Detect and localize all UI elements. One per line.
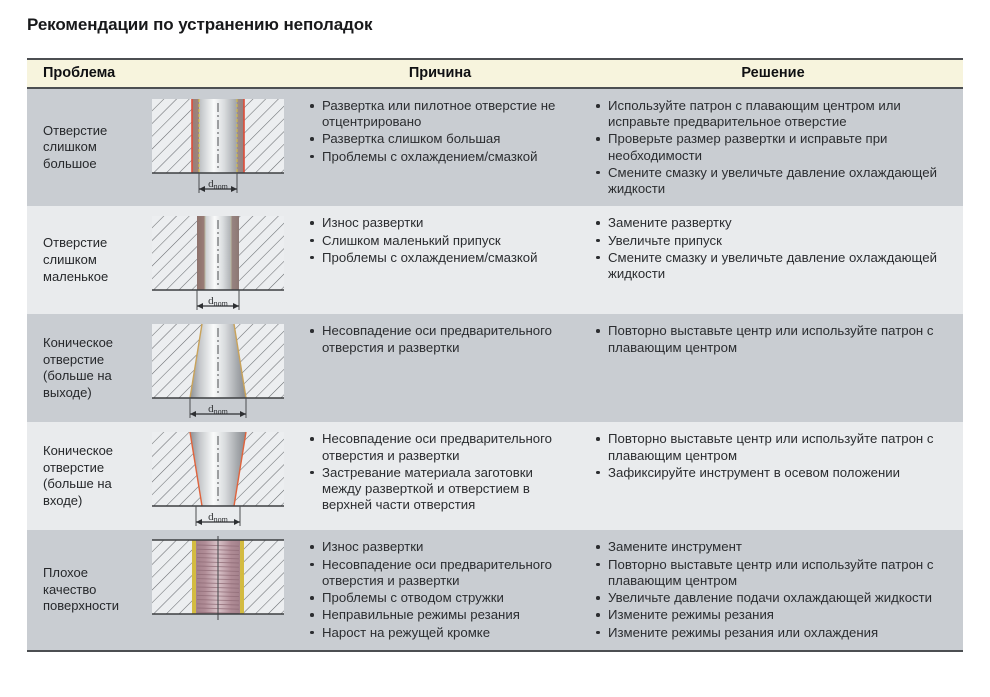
cell-problem: Плохое качество поверхности [27, 530, 139, 650]
cell-cause: Несовпадение оси предварительного отверс… [297, 314, 583, 422]
cause-item: Проблемы с отводом стружки [309, 590, 575, 606]
svg-text:dnom: dnom [208, 403, 229, 416]
cell-figure: dnom [139, 206, 297, 314]
solution-item: Повторно выставьте центр или используйте… [595, 431, 955, 463]
table-header: Проблема Причина Решение [27, 59, 963, 88]
cell-problem: Коническое отверстие (больше на входе) [27, 422, 139, 530]
cell-solution: Замените инструментПовторно выставьте це… [583, 530, 963, 650]
cell-cause: Развертка или пилотное отверстие не отце… [297, 88, 583, 206]
table-body: Отверстие слишком большое [27, 88, 963, 651]
cell-figure: dnom [139, 422, 297, 530]
figure-container: dnom [139, 206, 297, 314]
cell-solution: Замените разверткуУвеличьте припускСмени… [583, 206, 963, 314]
cell-cause: Несовпадение оси предварительного отверс… [297, 422, 583, 530]
cause-item: Застревание материала заготовки между ра… [309, 465, 575, 514]
cell-figure: dnom [139, 314, 297, 422]
solution-item: Проверьте размер развертки и исправьте п… [595, 131, 955, 163]
cause-item: Несовпадение оси предварительного отверс… [309, 557, 575, 589]
figure-hole-taper-entry: dnom [142, 428, 294, 528]
cause-item: Развертка слишком большая [309, 131, 575, 147]
cell-solution-list: Повторно выставьте центр или используйте… [583, 314, 963, 364]
solution-item: Увеличьте давление подачи охлаждающей жи… [595, 590, 955, 606]
cell-solution-list: Замените инструментПовторно выставьте це… [583, 530, 963, 649]
cause-item: Слишком маленький припуск [309, 233, 575, 249]
table-row: Отверстие слишком большое [27, 88, 963, 206]
solution-item: Повторно выставьте центр или используйте… [595, 323, 955, 355]
solution-item: Зафиксируйте инструмент в осевом положен… [595, 465, 955, 481]
cause-item: Нарост на режущей кромке [309, 625, 575, 641]
cause-item: Проблемы с охлаждением/смазкой [309, 250, 575, 266]
solution-item: Замените инструмент [595, 539, 955, 555]
svg-text:dnom: dnom [208, 178, 229, 191]
cell-cause-list: Несовпадение оси предварительного отверс… [297, 422, 583, 522]
page-title: Рекомендации по устранению неполадок [27, 15, 372, 35]
troubleshooting-table-wrapper: Проблема Причина Решение Отверстие слишк… [27, 58, 963, 652]
problem-label: Плохое качество поверхности [27, 565, 139, 615]
solution-item: Смените смазку и увеличьте давление охла… [595, 165, 955, 197]
svg-text:dnom: dnom [208, 295, 229, 308]
table-row: Коническое отверстие (больше на выходе) [27, 314, 963, 422]
solution-item: Замените развертку [595, 215, 955, 231]
table-row: Коническое отверстие (больше на входе) [27, 422, 963, 530]
cause-item: Проблемы с охлаждением/смазкой [309, 149, 575, 165]
cell-solution: Повторно выставьте центр или используйте… [583, 422, 963, 530]
cause-item: Развертка или пилотное отверстие не отце… [309, 98, 575, 130]
cause-item: Износ развертки [309, 215, 575, 231]
cause-item: Износ развертки [309, 539, 575, 555]
figure-hole-oversize: dnom [142, 95, 294, 195]
cell-problem: Отверстие слишком маленькое [27, 206, 139, 314]
cell-cause: Износ разверткиСлишком маленький припуск… [297, 206, 583, 314]
cell-solution: Используйте патрон с плавающим центром и… [583, 88, 963, 206]
cause-item: Несовпадение оси предварительного отверс… [309, 431, 575, 463]
figure-container: dnom [139, 89, 297, 197]
solution-item: Измените режимы резания [595, 607, 955, 623]
cell-figure: dnom [139, 88, 297, 206]
problem-label: Отверстие слишком большое [27, 123, 139, 173]
table-row: Плохое качество поверхности [27, 530, 963, 650]
cell-solution-list: Используйте патрон с плавающим центром и… [583, 89, 963, 206]
table-row: Отверстие слишком маленькое [27, 206, 963, 314]
cell-cause-list: Износ разверткиСлишком маленький припуск… [297, 206, 583, 275]
cell-solution-list: Замените разверткуУвеличьте припускСмени… [583, 206, 963, 291]
problem-label: Коническое отверстие (больше на выходе) [27, 335, 139, 402]
cell-solution: Повторно выставьте центр или используйте… [583, 314, 963, 422]
cell-cause-list: Развертка или пилотное отверстие не отце… [297, 89, 583, 174]
troubleshooting-table: Проблема Причина Решение Отверстие слишк… [27, 58, 963, 652]
figure-container: dnom [139, 422, 297, 530]
cell-cause-list: Несовпадение оси предварительного отверс… [297, 314, 583, 364]
figure-hole-undersize: dnom [142, 212, 294, 312]
svg-text:dnom: dnom [208, 511, 229, 524]
solution-item: Повторно выставьте центр или используйте… [595, 557, 955, 589]
cell-figure [139, 530, 297, 650]
figure-container [139, 530, 297, 624]
solution-item: Измените режимы резания или охлаждения [595, 625, 955, 641]
cell-problem: Отверстие слишком большое [27, 88, 139, 206]
solution-item: Увеличьте припуск [595, 233, 955, 249]
problem-label: Коническое отверстие (больше на входе) [27, 443, 139, 510]
column-header-solution: Решение [583, 59, 963, 88]
solution-item: Смените смазку и увеличьте давление охла… [595, 250, 955, 282]
column-header-problem: Проблема [27, 59, 297, 88]
solution-item: Используйте патрон с плавающим центром и… [595, 98, 955, 130]
cell-problem: Коническое отверстие (больше на выходе) [27, 314, 139, 422]
figure-hole-taper-exit: dnom [142, 320, 294, 420]
figure-hole-rough [142, 536, 294, 622]
cause-item: Несовпадение оси предварительного отверс… [309, 323, 575, 355]
figure-container: dnom [139, 314, 297, 422]
cell-cause: Износ разверткиНесовпадение оси предвари… [297, 530, 583, 650]
cell-cause-list: Износ разверткиНесовпадение оси предвари… [297, 530, 583, 649]
cell-solution-list: Повторно выставьте центр или используйте… [583, 422, 963, 490]
table-header-row: Проблема Причина Решение [27, 59, 963, 88]
problem-label: Отверстие слишком маленькое [27, 235, 139, 285]
column-header-cause: Причина [297, 59, 583, 88]
cause-item: Неправильные режимы резания [309, 607, 575, 623]
